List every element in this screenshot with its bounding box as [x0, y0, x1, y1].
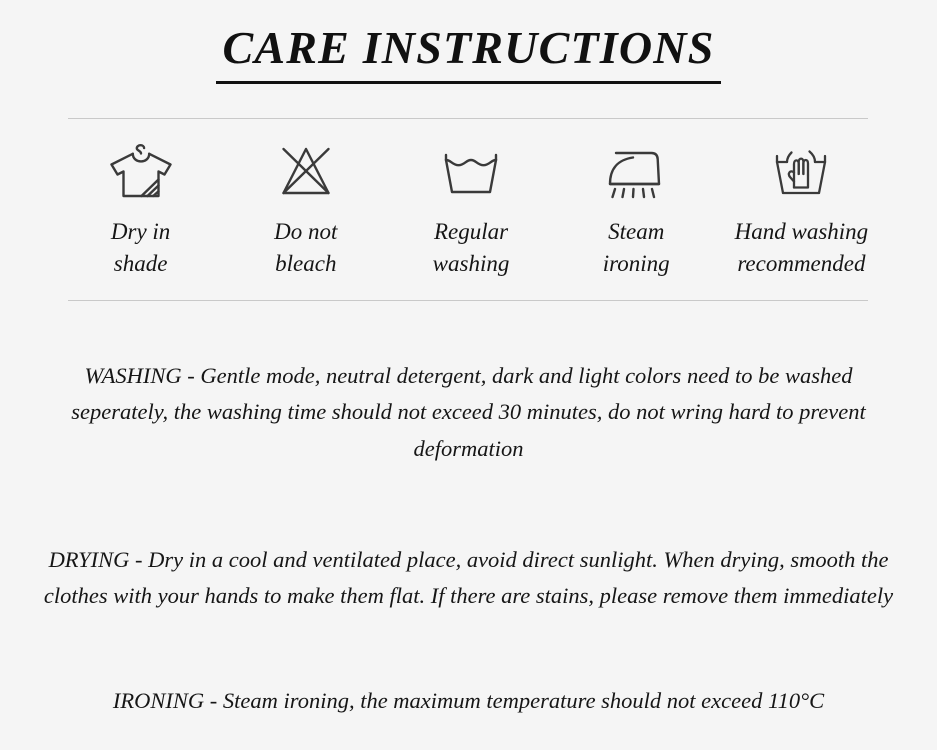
- regular-washing-tub-icon: [431, 140, 511, 202]
- care-symbol-dry-in-shade: Dry in shade: [58, 140, 223, 279]
- care-symbol-label: Dry in shade: [111, 216, 170, 279]
- page-title-container: CARE INSTRUCTIONS: [0, 22, 937, 84]
- care-symbol-regular-washing: Regular washing: [388, 140, 553, 279]
- care-instructions-page: CARE INSTRUCTIONS Dry in shade: [0, 0, 937, 750]
- divider-below-icons: [68, 300, 868, 301]
- care-symbol-label: Regular washing: [433, 216, 510, 279]
- care-symbol-hand-washing: Hand washing recommended: [719, 140, 884, 279]
- instruction-washing: WASHING - Gentle mode, neutral detergent…: [48, 358, 889, 467]
- steam-ironing-iron-icon: [596, 140, 676, 202]
- care-symbol-label: Steam ironing: [603, 216, 670, 279]
- care-symbol-do-not-bleach: Do not bleach: [223, 140, 388, 279]
- divider-above-icons: [68, 118, 868, 119]
- instruction-ironing: IRONING - Steam ironing, the maximum tem…: [48, 683, 889, 719]
- care-symbol-steam-ironing: Steam ironing: [554, 140, 719, 279]
- page-title: CARE INSTRUCTIONS: [216, 22, 720, 84]
- instruction-drying: DRYING - Dry in a cool and ventilated pl…: [40, 542, 897, 615]
- do-not-bleach-crossed-triangle-icon: [266, 140, 346, 202]
- care-symbol-label: Hand washing recommended: [735, 216, 869, 279]
- care-symbol-label: Do not bleach: [274, 216, 337, 279]
- dry-in-shade-tshirt-hanger-icon: [101, 140, 181, 202]
- care-symbol-row: Dry in shade Do not bleach: [58, 140, 884, 279]
- hand-washing-tub-hand-icon: [761, 140, 841, 202]
